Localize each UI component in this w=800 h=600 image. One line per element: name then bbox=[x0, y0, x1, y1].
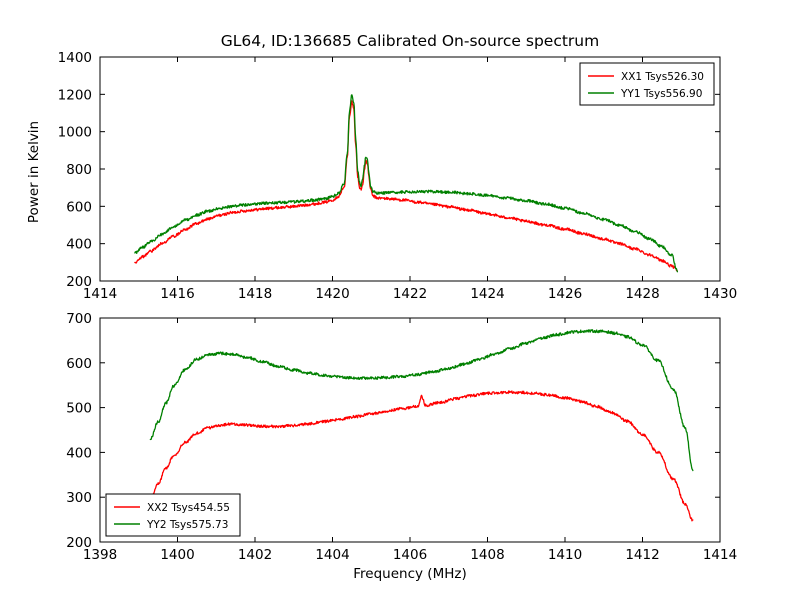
top_panel-legend-label-0: XX1 Tsys526.30 bbox=[621, 71, 704, 83]
top_panel-x-tick-label: 1418 bbox=[238, 286, 272, 302]
bottom_panel-x-tick-label: 1404 bbox=[315, 547, 349, 563]
bottom_panel-x-tick-label: 1410 bbox=[548, 547, 582, 563]
top-panel: 2004006008001000120014001414141614181420… bbox=[58, 50, 738, 302]
bottom_panel-y-tick-label: 600 bbox=[66, 356, 92, 372]
top_panel-x-tick-label: 1420 bbox=[315, 286, 349, 302]
top_panel-legend: XX1 Tsys526.30YY1 Tsys556.90 bbox=[580, 63, 714, 105]
top_panel-x-tick-label: 1414 bbox=[83, 286, 117, 302]
top_panel-legend-label-1: YY1 Tsys556.90 bbox=[620, 88, 702, 100]
top_panel-trace-0 bbox=[135, 101, 678, 271]
bottom_panel-y-tick-label: 700 bbox=[66, 311, 92, 327]
page-title: GL64, ID:136685 Calibrated On-source spe… bbox=[221, 32, 599, 50]
top_panel-x-tick-label: 1422 bbox=[393, 286, 427, 302]
figure-canvas: GL64, ID:136685 Calibrated On-source spe… bbox=[0, 0, 800, 600]
spectrum-figure: GL64, ID:136685 Calibrated On-source spe… bbox=[0, 0, 800, 600]
bottom_panel-y-tick-label: 300 bbox=[66, 490, 92, 506]
bottom_panel-x-tick-label: 1398 bbox=[83, 547, 117, 563]
top_panel-y-tick-label: 1000 bbox=[58, 125, 92, 141]
bottom_panel-legend-label-1: YY2 Tsys575.73 bbox=[146, 519, 228, 531]
bottom_panel-legend-label-0: XX2 Tsys454.55 bbox=[147, 502, 230, 514]
top_panel-y-tick-label: 1200 bbox=[58, 87, 92, 103]
bottom_panel-x-tick-label: 1402 bbox=[238, 547, 272, 563]
bottom_panel-trace-1 bbox=[150, 330, 693, 471]
top_panel-x-tick-label: 1430 bbox=[703, 286, 737, 302]
bottom-x-axis-label: Frequency (MHz) bbox=[353, 566, 466, 582]
top_panel-y-tick-label: 400 bbox=[66, 237, 92, 253]
bottom_panel-x-tick-label: 1414 bbox=[703, 547, 737, 563]
top_panel-y-tick-label: 800 bbox=[66, 162, 92, 178]
bottom_panel-x-tick-label: 1400 bbox=[160, 547, 194, 563]
top_panel-y-tick-label: 600 bbox=[66, 199, 92, 215]
top-y-axis-label: Power in Kelvin bbox=[26, 121, 42, 223]
top_panel-trace-1 bbox=[135, 95, 678, 272]
top_panel-x-tick-label: 1428 bbox=[625, 286, 659, 302]
bottom_panel-y-tick-label: 400 bbox=[66, 445, 92, 461]
top_panel-x-tick-label: 1424 bbox=[470, 286, 504, 302]
bottom_panel-x-tick-label: 1412 bbox=[625, 547, 659, 563]
bottom_panel-y-tick-label: 500 bbox=[66, 401, 92, 417]
bottom-panel: 2003004005006007001398140014021404140614… bbox=[66, 311, 737, 563]
top_panel-x-tick-label: 1426 bbox=[548, 286, 582, 302]
top_panel-y-tick-label: 1400 bbox=[58, 50, 92, 66]
top_panel-x-tick-label: 1416 bbox=[160, 286, 194, 302]
bottom_panel-x-tick-label: 1406 bbox=[393, 547, 427, 563]
bottom_panel-x-tick-label: 1408 bbox=[470, 547, 504, 563]
bottom_panel-legend: XX2 Tsys454.55YY2 Tsys575.73 bbox=[106, 494, 240, 536]
